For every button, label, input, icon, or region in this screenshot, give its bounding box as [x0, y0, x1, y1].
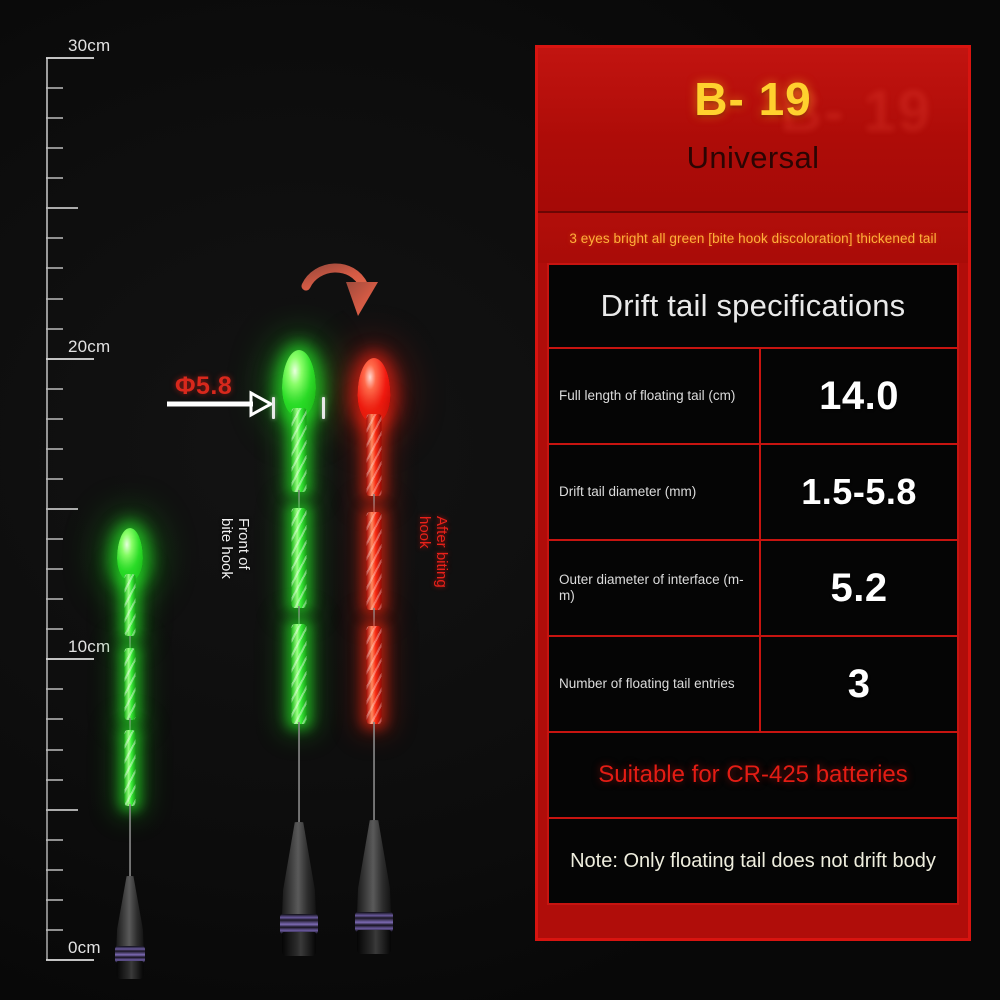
ruler-tick-8: [46, 718, 63, 720]
panel-header: B- 19 B- 19 Universal: [538, 48, 968, 213]
ruler-tick-20: [46, 358, 94, 360]
model-code: B- 19: [538, 72, 968, 126]
ruler-tick-11: [46, 628, 63, 630]
ruler-tick-3: [46, 869, 63, 871]
spec-row: Drift tail diameter (mm)1.5-5.8: [547, 445, 959, 541]
ruler-tick-2: [46, 899, 63, 901]
float-bulb-green: [282, 350, 316, 416]
float-stem: [298, 606, 300, 626]
float-segment: [367, 414, 382, 496]
ruler-tick-14: [46, 538, 63, 540]
label-after-biting-hook: After biting hook: [415, 516, 449, 588]
spec-table-title: Drift tail specifications: [547, 263, 959, 349]
ruler-tick-5: [46, 809, 78, 811]
float-stem: [298, 490, 300, 510]
ruler-tick-30: [46, 57, 94, 59]
measurement-ruler: 30cm20cm10cm0cm: [46, 58, 106, 960]
spec-row: Outer diameter of interface (m-m)5.2: [547, 541, 959, 637]
float-stem: [373, 722, 375, 828]
ruler-tick-0: [46, 959, 94, 961]
ruler-tick-25: [46, 207, 78, 209]
spec-panel: B- 19 B- 19 Universal 3 eyes bright all …: [535, 45, 971, 941]
ruler-tick-4: [46, 839, 63, 841]
float-segment: [292, 408, 307, 492]
float-ring: [280, 914, 318, 934]
spec-row: Number of floating tail entries3: [547, 637, 959, 733]
ruler-tick-10: [46, 658, 94, 660]
ruler-tick-27: [46, 147, 63, 149]
ruler-tick-19: [46, 388, 63, 390]
float-stem: [298, 722, 300, 830]
float-segment: [292, 508, 307, 608]
float-segment: [125, 648, 136, 720]
ruler-tick-16: [46, 478, 63, 480]
ruler-tick-24: [46, 237, 63, 239]
float-segment: [292, 624, 307, 724]
spec-row-value: 14.0: [761, 349, 957, 443]
ruler-tick-1: [46, 929, 63, 931]
infographic-canvas: 30cm20cm10cm0cm: [0, 0, 1000, 1000]
spec-row-key: Drift tail diameter (mm): [549, 445, 761, 539]
float-segment: [125, 730, 136, 806]
ruler-tick-23: [46, 267, 63, 269]
ruler-tick-7: [46, 749, 63, 751]
ruler-label-0: 0cm: [68, 938, 101, 958]
float-bulb-red: [358, 358, 391, 422]
float-ring: [355, 912, 393, 932]
spec-row-value: 3: [761, 637, 957, 731]
curved-arrow-icon: [300, 258, 400, 358]
ruler-tick-29: [46, 87, 63, 89]
spec-table-body: Full length of floating tail (cm)14.0Dri…: [547, 349, 959, 733]
spec-row-key: Outer diameter of interface (m-m): [549, 541, 761, 635]
model-subtitle: Universal: [538, 140, 968, 176]
spec-row-key: Number of floating tail entries: [549, 637, 761, 731]
ruler-tick-21: [46, 328, 63, 330]
label-line-2: bite hook: [218, 518, 235, 579]
right-arrow-icon: [165, 388, 275, 420]
float-middle-green: [275, 350, 323, 960]
panel-tagline: 3 eyes bright all green [bite hook disco…: [538, 213, 968, 263]
ruler-tick-9: [46, 688, 63, 690]
spec-table: Drift tail specifications Full length of…: [538, 263, 968, 914]
float-right-red: [350, 358, 398, 960]
float-stem: [373, 494, 375, 514]
caliper-mark-right: [322, 397, 325, 419]
ruler-label-20: 20cm: [68, 337, 110, 357]
float-segment: [367, 626, 382, 724]
spec-row: Full length of floating tail (cm)14.0: [547, 349, 959, 445]
spec-row-value: 1.5-5.8: [761, 445, 957, 539]
footer-note: Note: Only floating tail does not drift …: [547, 819, 959, 905]
float-bulb-green: [117, 528, 143, 580]
ruler-tick-18: [46, 418, 63, 420]
float-segment: [367, 512, 382, 610]
ruler-tick-17: [46, 448, 63, 450]
ruler-tick-13: [46, 568, 63, 570]
float-foot: [117, 961, 144, 979]
ruler-tick-26: [46, 177, 63, 179]
label-line-1: Front of: [235, 518, 252, 570]
label-line-2: hook: [416, 516, 433, 549]
float-left-green: [110, 528, 150, 968]
label-line-1: After biting: [433, 516, 450, 588]
ruler-tick-22: [46, 298, 63, 300]
label-front-of-bite-hook: Front of bite hook: [217, 518, 251, 579]
spec-row-value: 5.2: [761, 541, 957, 635]
ruler-tick-15: [46, 508, 78, 510]
caliper-mark-left: [272, 397, 275, 419]
float-foot: [357, 930, 391, 954]
ruler-tick-12: [46, 598, 63, 600]
ruler-label-30: 30cm: [68, 36, 110, 56]
float-stem: [129, 804, 131, 882]
ruler-label-10: 10cm: [68, 637, 110, 657]
float-segment: [125, 574, 136, 636]
float-stem: [373, 608, 375, 628]
spec-row-key: Full length of floating tail (cm): [549, 349, 761, 443]
battery-note: Suitable for CR-425 batteries: [547, 733, 959, 819]
float-foot: [282, 932, 316, 956]
ruler-tick-6: [46, 779, 63, 781]
ruler-tick-28: [46, 117, 63, 119]
